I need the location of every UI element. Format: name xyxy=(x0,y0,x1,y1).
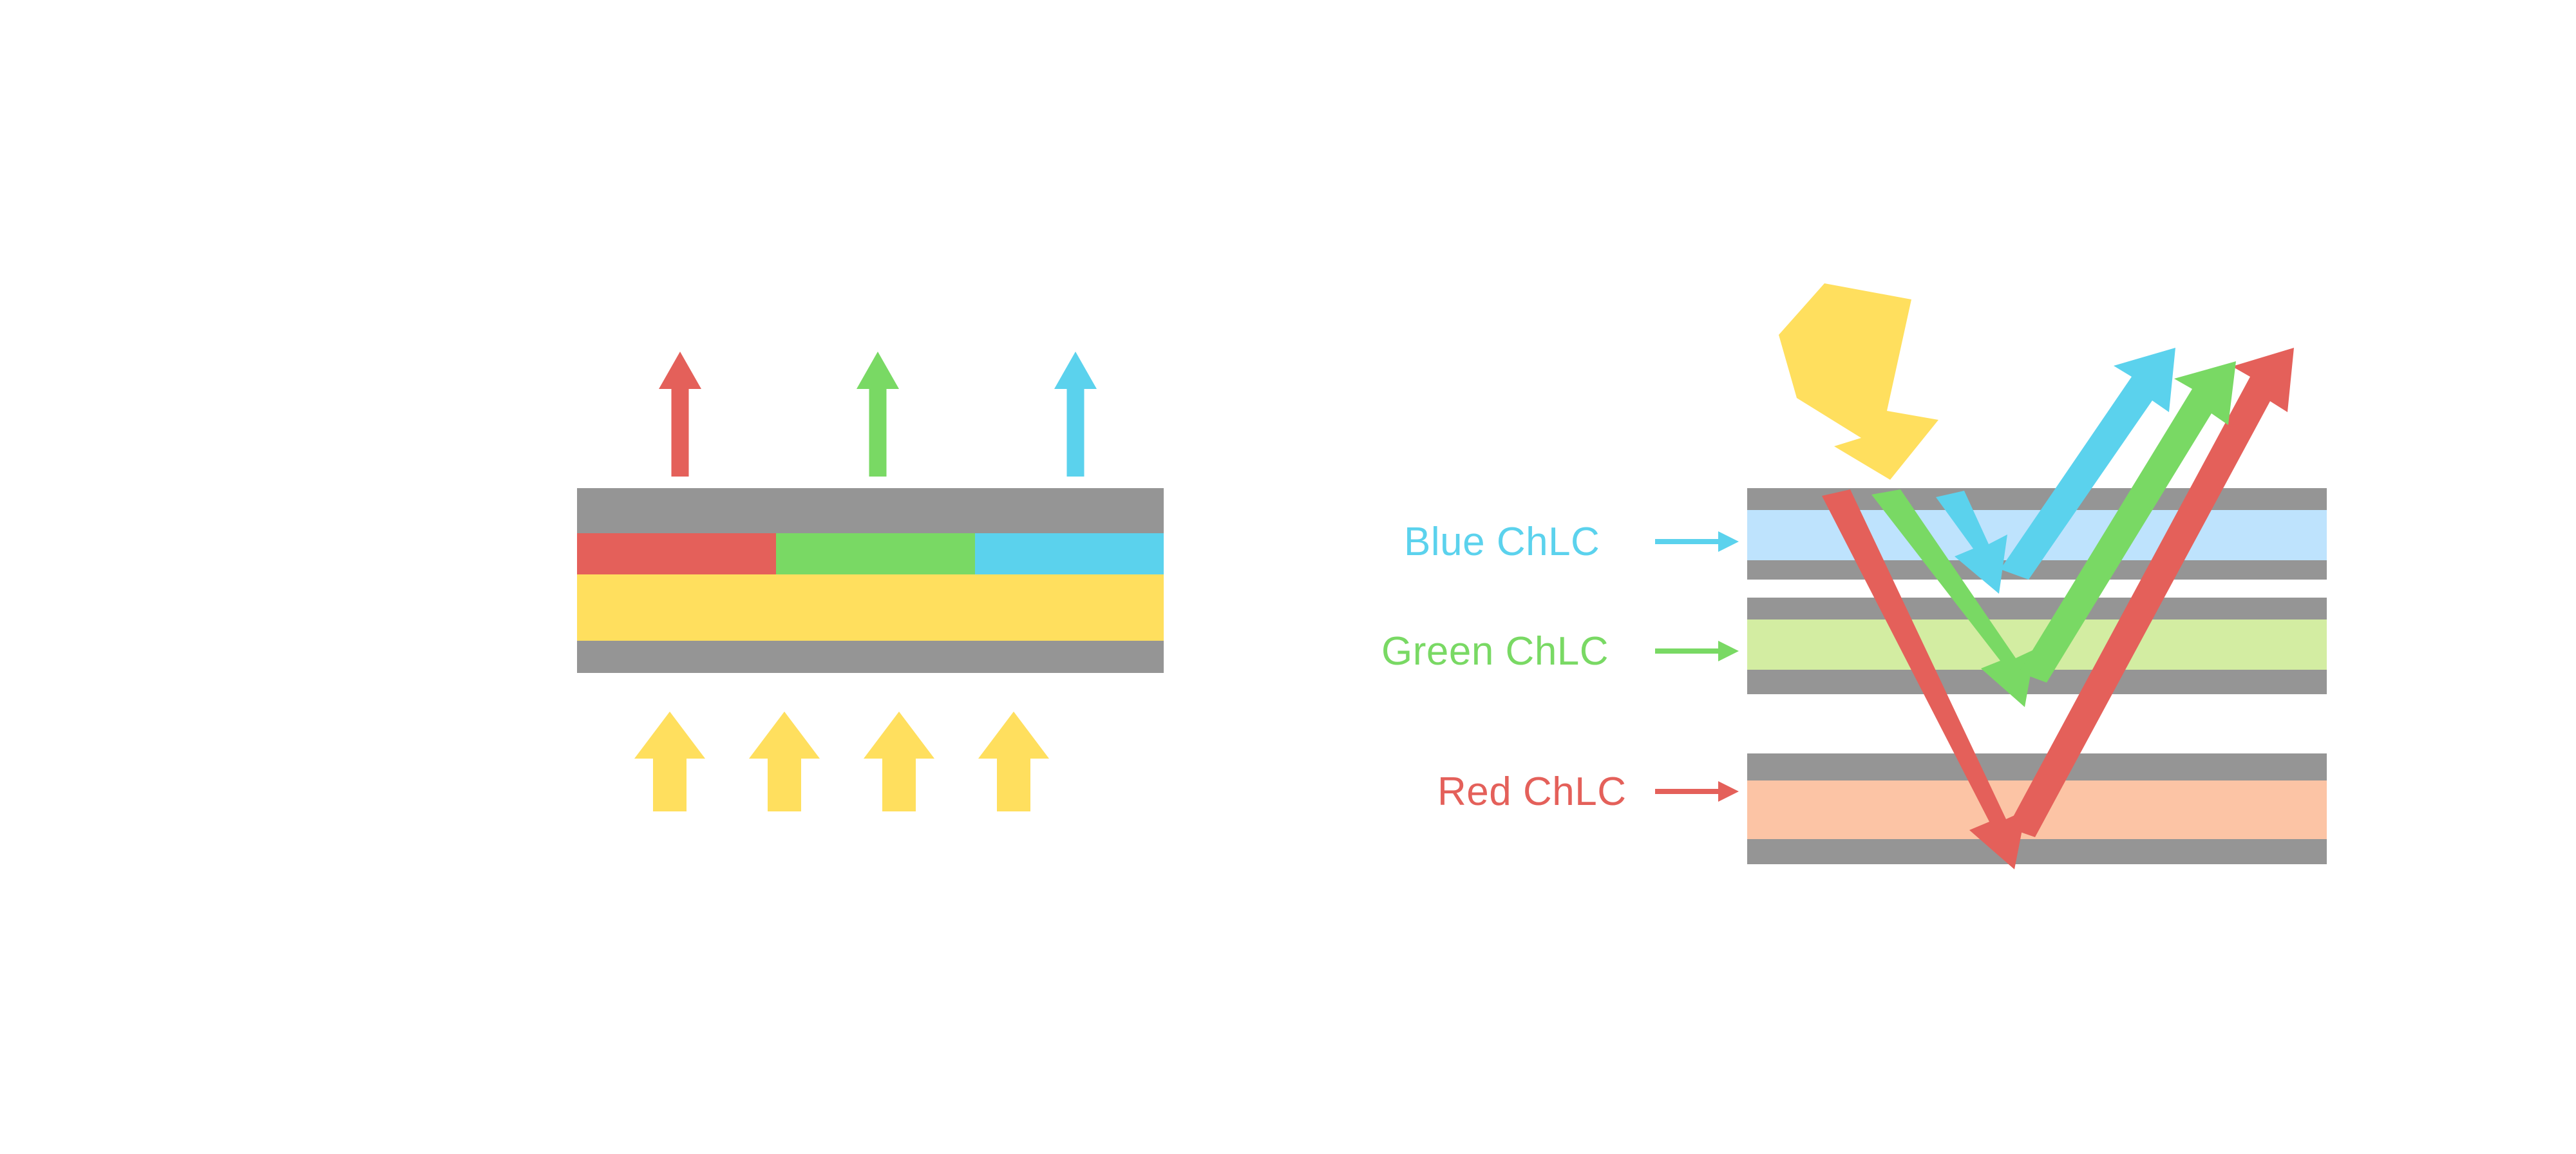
green-color-filter xyxy=(776,533,975,574)
backlight-arrow-1 xyxy=(634,712,705,811)
red-chlc-label: Red ChLC xyxy=(1437,770,1626,814)
backlight-arrow-2 xyxy=(749,712,820,811)
red-chlc-label-group: Red ChLC xyxy=(1437,770,1739,814)
blue-color-filter xyxy=(975,533,1164,574)
right-panel-group: Blue ChLC Green ChLC Red ChLC xyxy=(1381,283,2327,869)
left-panel-group xyxy=(577,352,1164,811)
blue-chlc-label-arrow-icon xyxy=(1655,531,1739,552)
red-chlc-label-arrow-icon xyxy=(1655,781,1739,802)
red-color-filter xyxy=(577,533,776,574)
green-chlc-label-group: Green ChLC xyxy=(1381,629,1739,674)
blue-chlc-label-group: Blue ChLC xyxy=(1404,520,1739,564)
blue-emitted-arrow xyxy=(1054,352,1097,477)
backlight-arrow-3 xyxy=(864,712,934,811)
green-chlc-label: Green ChLC xyxy=(1381,629,1609,674)
left-emitted-arrows-group xyxy=(659,352,1097,477)
backlight-arrow-4 xyxy=(978,712,1049,811)
green-emitted-arrow xyxy=(857,352,899,477)
backlight-layer xyxy=(577,574,1164,641)
left-top-electrode xyxy=(577,488,1164,533)
red-cell-bottom-electrode xyxy=(1747,839,2327,864)
red-emitted-arrow xyxy=(659,352,701,477)
backlight-arrows-group xyxy=(634,712,1049,811)
white-light-incident-arrow xyxy=(1779,283,1938,480)
blue-chlc-label: Blue ChLC xyxy=(1404,520,1600,564)
left-bottom-electrode xyxy=(577,641,1164,673)
diagram-canvas: Blue ChLC Green ChLC Red ChLC xyxy=(0,0,2576,1154)
green-cell-top-electrode xyxy=(1747,598,2327,620)
green-chlc-label-arrow-icon xyxy=(1655,641,1739,661)
